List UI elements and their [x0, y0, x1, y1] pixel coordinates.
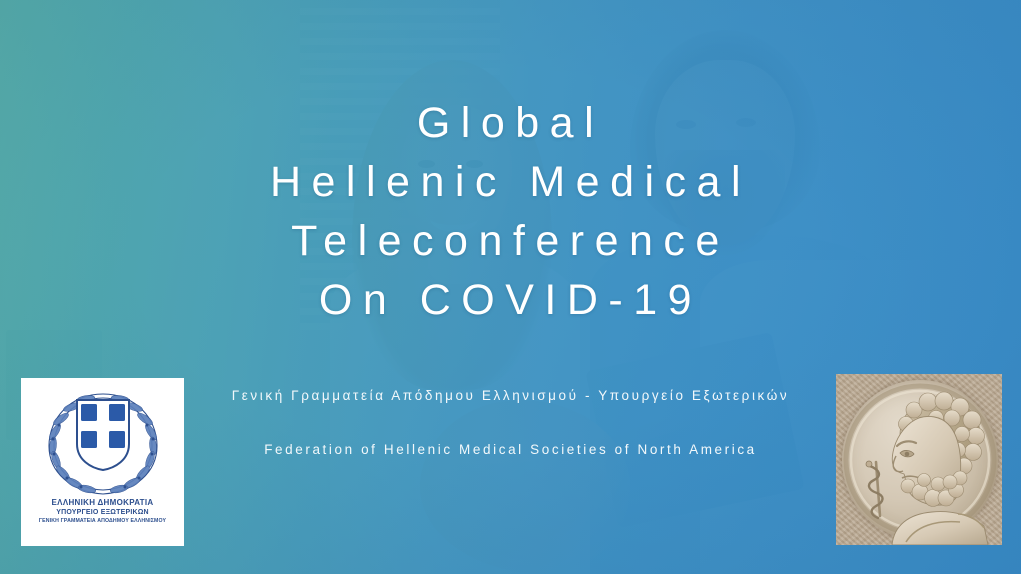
presentation-slide: Global Hellenic Medical Teleconference O… [0, 0, 1021, 574]
emblem-caption: ΕΛΛΗΝΙΚΗ ΔΗΜΟΚΡΑΤΙΑ ΥΠΟΥΡΓΕΙΟ ΕΞΩΤΕΡΙΚΩΝ… [21, 498, 184, 525]
emblem-line-1: ΕΛΛΗΝΙΚΗ ΔΗΜΟΚΡΑΤΙΑ [21, 498, 184, 508]
hippocrates-profile-icon [836, 374, 1002, 545]
coat-of-arms-icon [37, 388, 169, 500]
emblem-line-2: ΥΠΟΥΡΓΕΙΟ ΕΞΩΤΕΡΙΚΩΝ [21, 508, 184, 517]
title-line-3: Teleconference [0, 212, 1021, 271]
title-line-2: Hellenic Medical [0, 153, 1021, 212]
title-line-1: Global [0, 94, 1021, 153]
slide-title: Global Hellenic Medical Teleconference O… [0, 94, 1021, 330]
title-line-4: On COVID-19 [0, 271, 1021, 330]
hippocrates-medallion-card [836, 374, 1002, 545]
hellenic-republic-emblem-card: ΕΛΛΗΝΙΚΗ ΔΗΜΟΚΡΑΤΙΑ ΥΠΟΥΡΓΕΙΟ ΕΞΩΤΕΡΙΚΩΝ… [21, 378, 184, 546]
emblem-line-3: ΓΕΝΙΚΗ ΓΡΑΜΜΑΤΕΙΑ ΑΠΟΔΗΜΟΥ ΕΛΛΗΝΙΣΜΟΥ [21, 517, 184, 525]
greek-flag-shield-icon [75, 398, 131, 472]
